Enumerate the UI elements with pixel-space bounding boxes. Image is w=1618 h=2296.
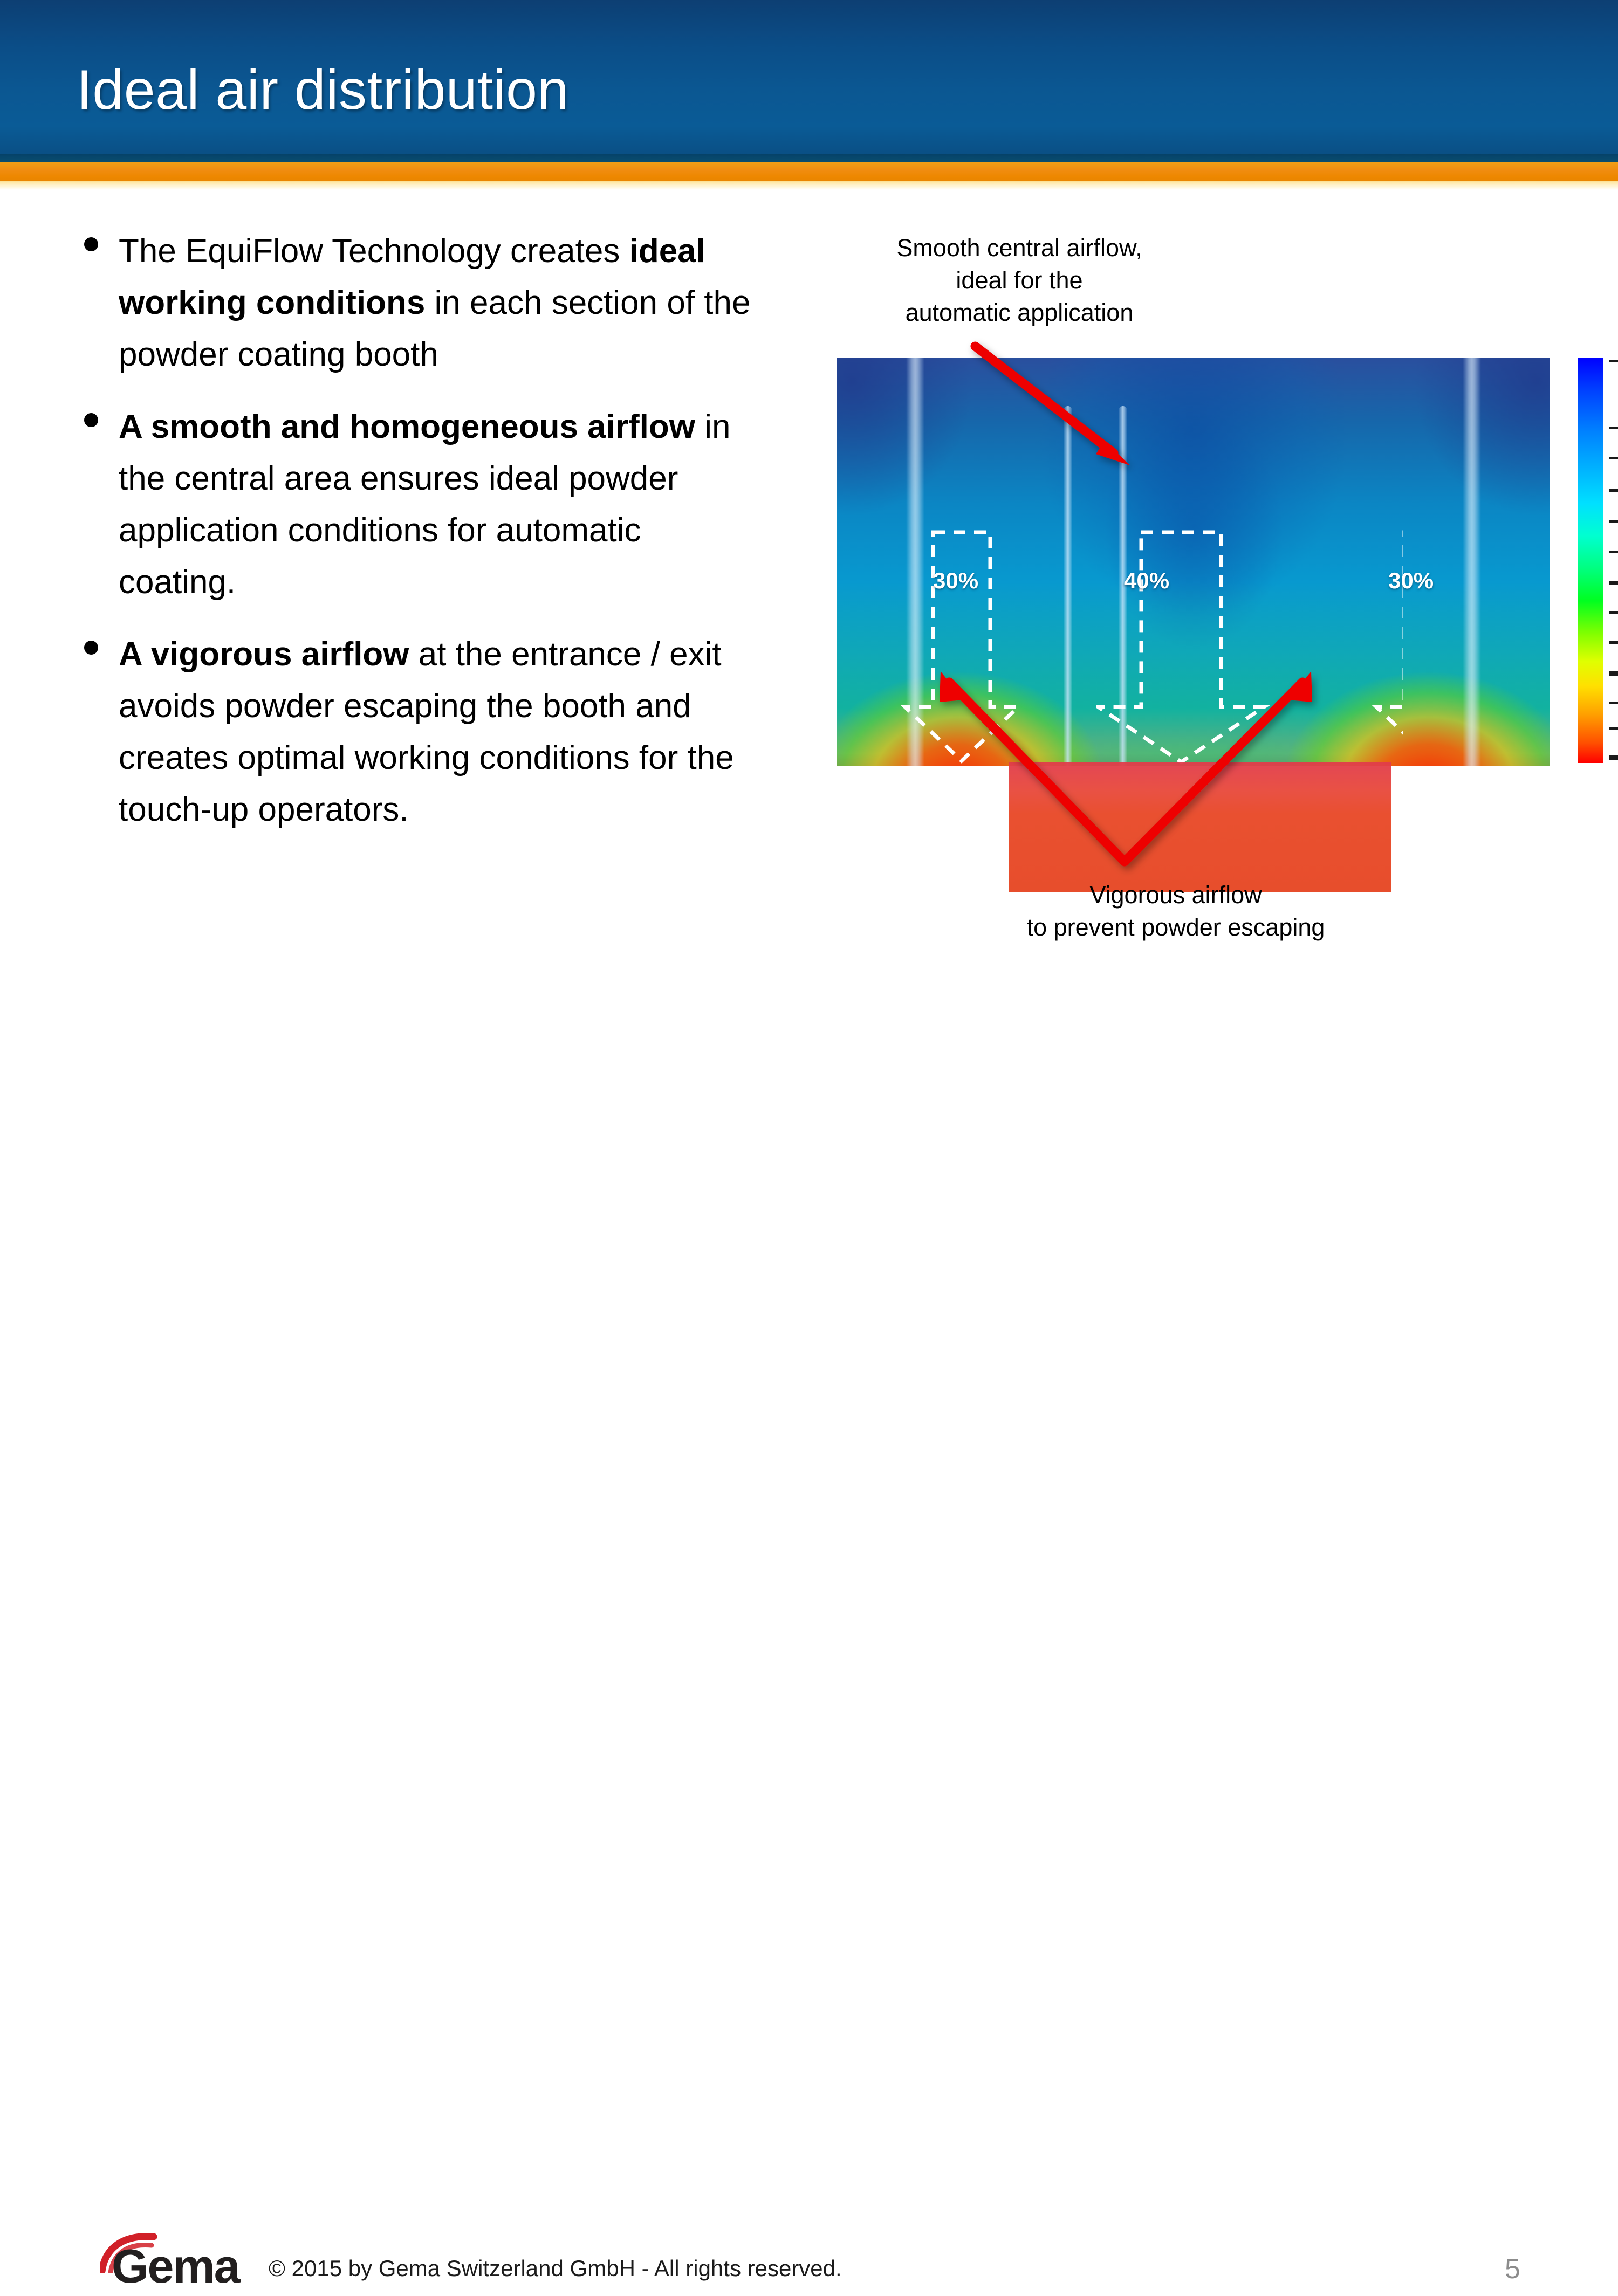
- flow-label-left: 30%: [933, 568, 978, 594]
- list-item: A vigorous airflow at the entrance / exi…: [59, 629, 760, 836]
- annotation-smooth-central-airflow: Smooth central airflow, ideal for the au…: [831, 232, 1208, 329]
- list-item: The EquiFlow Technology creates ideal wo…: [59, 225, 760, 381]
- colorbar-tick: [1609, 551, 1618, 553]
- cfd-plot-area: 30% 40% 30%: [837, 358, 1565, 891]
- cfd-velocity-heatmap: 30% 40% 30%: [837, 358, 1550, 766]
- gema-logo-text: Gema: [112, 2240, 239, 2293]
- annotation-vigorous-airflow: Vigorous airflow to prevent powder escap…: [955, 879, 1397, 944]
- cfd-diagram: Smooth central airflow, ideal for the au…: [820, 232, 1607, 949]
- gema-logo: Gema: [100, 2237, 256, 2296]
- bullet-text-vigorous-airflow: A vigorous airflow at the entrance / exi…: [119, 636, 734, 828]
- colorbar-tick: [1609, 755, 1618, 760]
- colorbar-tick: [1609, 427, 1618, 429]
- booth-rail-strip-right: [1463, 358, 1481, 766]
- bullet-dot-icon: [84, 413, 98, 427]
- colorbar-velocity-scale: [1578, 358, 1603, 763]
- bullet-dot-icon: [84, 237, 98, 251]
- colorbar-tick: [1609, 611, 1618, 614]
- colorbar-tick: [1609, 702, 1618, 704]
- flow-arrow-right-30: [1263, 529, 1403, 766]
- bullet-text-smooth-airflow: A smooth and homogeneous airflow in the …: [119, 408, 730, 601]
- bullet-text-equiflow: The EquiFlow Technology creates ideal wo…: [119, 232, 751, 373]
- booth-gun-strip-a: [1064, 406, 1072, 766]
- page-title: Ideal air distribution: [77, 58, 569, 122]
- flow-label-center: 40%: [1124, 568, 1169, 594]
- bullet-list: The EquiFlow Technology creates ideal wo…: [59, 225, 760, 856]
- colorbar-ticks: [1607, 358, 1618, 763]
- page-number: 5: [1505, 2253, 1520, 2285]
- colorbar-tick: [1609, 581, 1618, 585]
- header-accent-bar: [0, 162, 1618, 181]
- colorbar-tick: [1609, 520, 1618, 523]
- slide-footer: Gema © 2015 by Gema Switzerland GmbH - A…: [0, 1116, 1618, 1213]
- colorbar-tick: [1609, 641, 1618, 644]
- header-accent-glow: [0, 181, 1618, 190]
- colorbar-tick: [1609, 727, 1618, 730]
- colorbar-tick: [1609, 489, 1618, 492]
- flow-arrow-center-40: [1096, 529, 1274, 766]
- flow-label-right: 30%: [1388, 568, 1434, 594]
- bullet-dot-icon: [84, 641, 98, 655]
- copyright-notice: © 2015 by Gema Switzerland GmbH - All ri…: [269, 2254, 842, 2283]
- list-item: A smooth and homogeneous airflow in the …: [59, 401, 760, 608]
- colorbar-tick: [1609, 671, 1618, 676]
- flow-arrow-left-30: [901, 529, 1025, 766]
- cfd-floor-block: [1009, 762, 1391, 892]
- colorbar-tick: [1609, 360, 1618, 362]
- colorbar-tick: [1609, 457, 1618, 459]
